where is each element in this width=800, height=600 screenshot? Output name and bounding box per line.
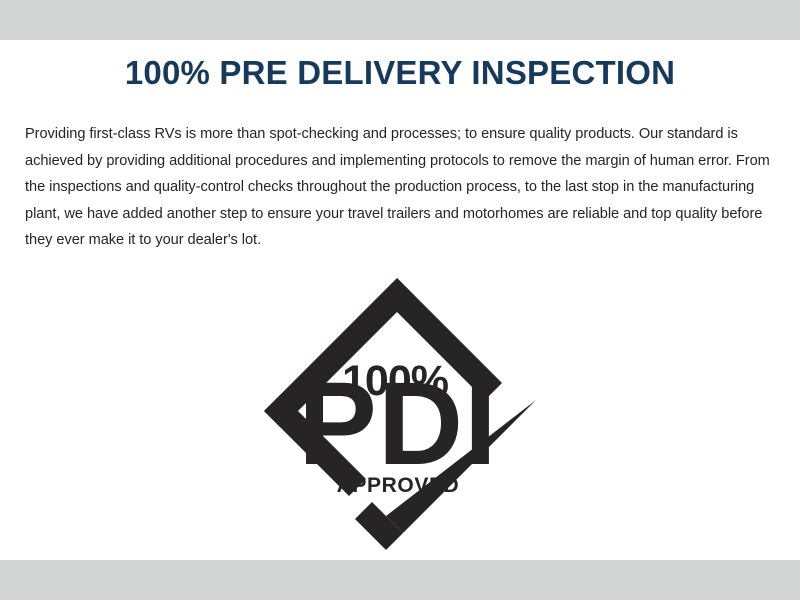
pdi-badge: 100% PDI APPROVED	[255, 254, 545, 564]
badge-status-label: APPROVED	[337, 474, 460, 497]
content-area: 100% PRE DELIVERY INSPECTION Providing f…	[0, 40, 800, 560]
badge-acronym-label: PDI	[298, 358, 498, 490]
pdi-approved-diamond-badge-icon: 100% PDI APPROVED	[255, 274, 545, 564]
top-decorative-band	[0, 0, 800, 40]
page-root: 100% PRE DELIVERY INSPECTION Providing f…	[0, 0, 800, 600]
page-title: 100% PRE DELIVERY INSPECTION	[25, 40, 775, 95]
body-paragraph: Providing first-class RVs is more than s…	[25, 95, 775, 254]
bottom-decorative-band	[0, 560, 800, 600]
